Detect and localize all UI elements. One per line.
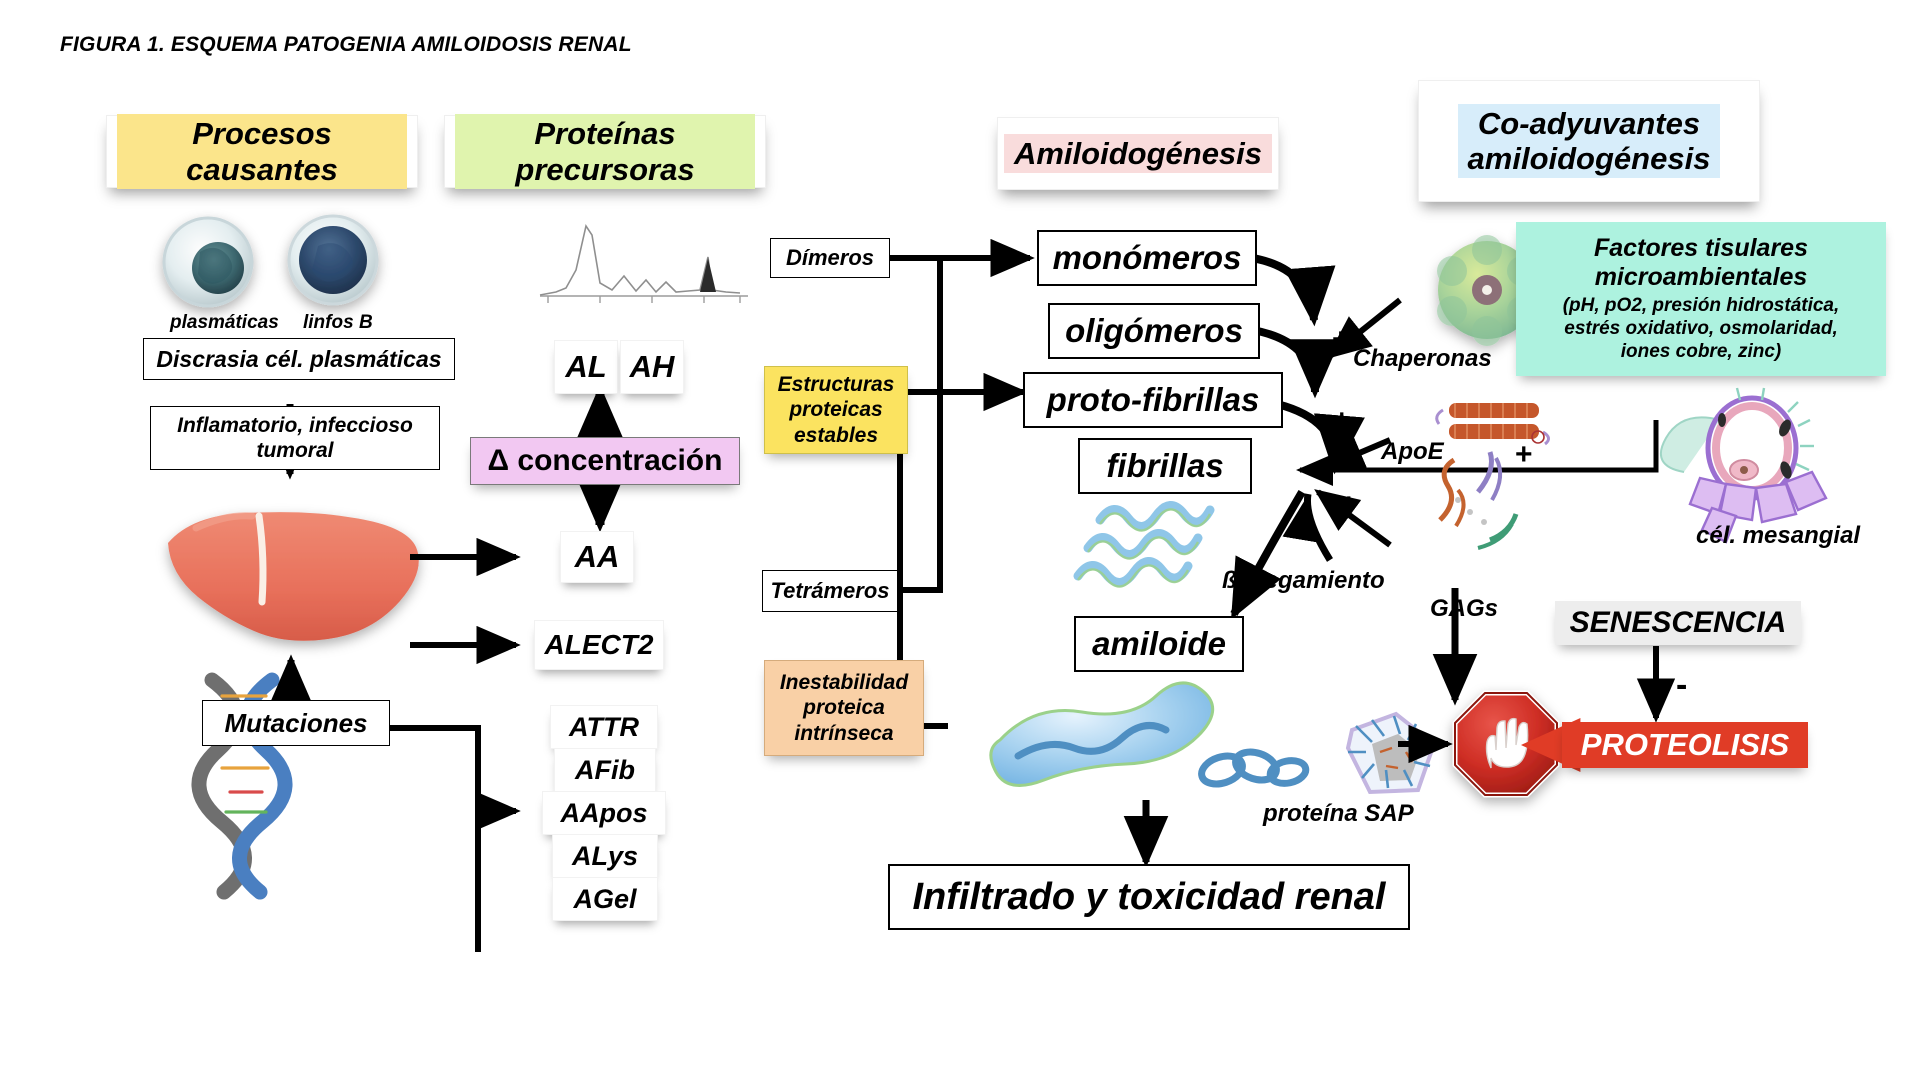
header-co-adyuvantes-label: Co-adyuvantes amiloidogénesis bbox=[1458, 104, 1721, 179]
label-linfos-b: linfos B bbox=[303, 312, 373, 334]
header-amiloidogenesis: Amiloidogénesis bbox=[997, 117, 1279, 190]
label-gags: GAGs bbox=[1430, 595, 1498, 623]
box-aapos: AApos bbox=[542, 791, 666, 835]
box-proto-fibrillas: proto-fibrillas bbox=[1023, 372, 1283, 428]
box-afib: AFib bbox=[554, 748, 656, 792]
box-inflamatorio-label: Inflamatorio, infeccioso tumoral bbox=[177, 413, 413, 463]
label-plasmaticas: plasmáticas bbox=[170, 312, 279, 334]
box-mutaciones: Mutaciones bbox=[202, 700, 390, 746]
box-tetrameros: Tetrámeros bbox=[762, 570, 898, 612]
box-senescencia: SENESCENCIA bbox=[1555, 601, 1801, 645]
label-apoe: ApoE bbox=[1381, 438, 1444, 466]
plus-sign-gags: + bbox=[1340, 490, 1358, 520]
chain-links-image bbox=[1198, 747, 1308, 789]
header-amiloidogenesis-label: Amiloidogénesis bbox=[1004, 134, 1272, 173]
plus-sign-apoe: + bbox=[1333, 406, 1351, 436]
label-beta-plegamiento: ß plegamiento bbox=[1222, 567, 1385, 595]
arrow-beta-folding-up bbox=[1307, 494, 1330, 560]
label-cel-mesangial: cél. mesangial bbox=[1696, 522, 1860, 550]
box-alect2: ALECT2 bbox=[534, 620, 664, 670]
arrow-fibrillas-to-amiloide bbox=[1234, 492, 1302, 614]
box-al: AL bbox=[554, 340, 618, 394]
sap-pentamer-image bbox=[1348, 714, 1434, 792]
b-lymphocyte-image bbox=[289, 216, 377, 304]
box-ah: AH bbox=[620, 340, 684, 394]
box-alys: ALys bbox=[552, 834, 658, 878]
box-inestabilidad-label: Inestabilidad proteica intrínseca bbox=[780, 670, 908, 747]
mesangial-cell-image bbox=[1661, 388, 1826, 542]
header-procesos-causantes: Procesos causantes bbox=[106, 115, 418, 188]
box-factores-title: Factores tisulares microambientales bbox=[1594, 234, 1808, 292]
fibril-image bbox=[1078, 505, 1210, 586]
box-amiloide: amiloide bbox=[1074, 616, 1244, 672]
box-monomeros: monómeros bbox=[1037, 230, 1257, 286]
box-dimeros: Dímeros bbox=[770, 238, 890, 278]
header-proteinas-precursoras: Proteínas precursoras bbox=[444, 115, 766, 188]
plus-sign-chaperonas: + bbox=[1332, 325, 1350, 355]
box-proteolisis: PROTEOLISIS bbox=[1562, 722, 1808, 768]
arrow-factores-mesangial-to-cascade bbox=[1300, 420, 1656, 470]
box-factores-tisulares: Factores tisulares microambientales (pH,… bbox=[1516, 222, 1886, 376]
plus-sign-mesangial: + bbox=[1515, 440, 1533, 470]
stop-sign-icon bbox=[1455, 693, 1557, 795]
box-inflamatorio: Inflamatorio, infeccioso tumoral bbox=[150, 406, 440, 470]
label-proteina-sap: proteína SAP bbox=[1263, 800, 1414, 828]
arrow-proto-fibrillas-to-fibrillas bbox=[1277, 404, 1335, 468]
box-delta-concentracion: Δ concentración bbox=[470, 437, 740, 485]
box-estructuras-label: Estructuras proteicas estables bbox=[778, 372, 895, 449]
amyloid-deposit-image bbox=[991, 683, 1213, 786]
header-proteinas-precursoras-label: Proteínas precursoras bbox=[455, 114, 755, 189]
arrow-monomeros-to-oligomeros bbox=[1252, 258, 1314, 320]
box-oligomeros: oligómeros bbox=[1048, 303, 1260, 359]
box-estructuras-proteicas-estables: Estructuras proteicas estables bbox=[764, 366, 908, 454]
box-agel: AGel bbox=[552, 877, 658, 921]
liver-image bbox=[168, 512, 419, 641]
box-discrasia: Discrasia cél. plasmáticas bbox=[143, 338, 455, 380]
header-co-adyuvantes: Co-adyuvantes amiloidogénesis bbox=[1418, 80, 1760, 202]
box-factores-detail: (pH, pO2, presión hidrostática, estrés o… bbox=[1563, 295, 1840, 363]
box-fibrillas: fibrillas bbox=[1078, 438, 1252, 494]
box-attr: ATTR bbox=[550, 705, 658, 749]
arrow-mutaciones-to-proteins bbox=[386, 728, 516, 811]
electrophoresis-trace-image bbox=[540, 226, 748, 303]
gags-image bbox=[1440, 452, 1516, 548]
box-inestabilidad-proteica: Inestabilidad proteica intrínseca bbox=[764, 660, 924, 756]
label-chaperonas: Chaperonas bbox=[1353, 345, 1492, 373]
figure-title: FIGURA 1. ESQUEMA PATOGENIA AMILOIDOSIS … bbox=[60, 33, 632, 57]
header-procesos-causantes-label: Procesos causantes bbox=[117, 114, 407, 189]
plasma-cell-image bbox=[164, 218, 252, 306]
minus-sign-senescencia: - bbox=[1676, 668, 1687, 702]
box-aa: AA bbox=[560, 531, 634, 583]
box-infiltrado-toxicidad-renal: Infiltrado y toxicidad renal bbox=[888, 864, 1410, 930]
